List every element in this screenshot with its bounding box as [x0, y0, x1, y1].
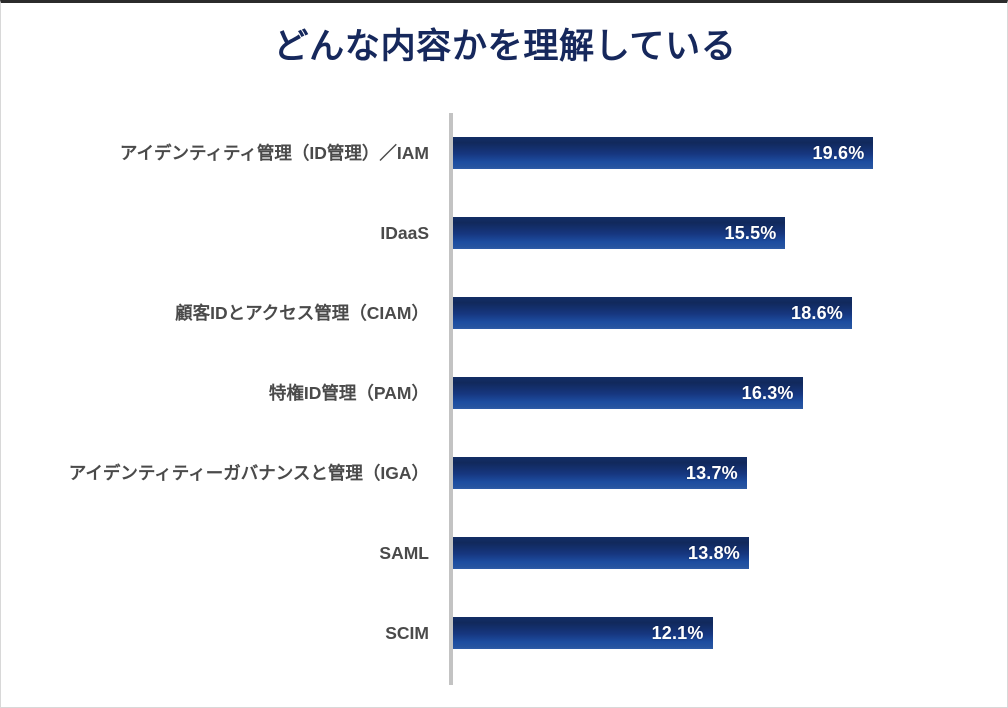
bar-rows: アイデンティティ管理（ID管理）／IAM19.6%IDaaS15.5%顧客IDと… — [1, 113, 1008, 688]
bar-value-label: 15.5% — [725, 223, 786, 244]
bar-value-label: 13.8% — [688, 543, 749, 564]
bar-row: アイデンティティーガバナンスと管理（IGA）13.7% — [1, 433, 1008, 513]
bar[interactable]: 12.1% — [453, 617, 713, 649]
bar[interactable]: 18.6% — [453, 297, 852, 329]
bar[interactable]: 16.3% — [453, 377, 803, 409]
chart-title: どんな内容かを理解している — [1, 25, 1008, 69]
bar-value-label: 18.6% — [791, 303, 852, 324]
bar-row: SCIM12.1% — [1, 593, 1008, 673]
category-label: 特権ID管理（PAM） — [1, 383, 439, 404]
category-label: 顧客IDとアクセス管理（CIAM） — [1, 303, 439, 324]
category-label: アイデンティティーガバナンスと管理（IGA） — [1, 463, 439, 484]
bar-wrapper: 12.1% — [453, 617, 713, 649]
bar-wrapper: 13.8% — [453, 537, 749, 569]
bar-wrapper: 15.5% — [453, 217, 785, 249]
category-label: アイデンティティ管理（ID管理）／IAM — [1, 143, 439, 164]
bar-row: IDaaS15.5% — [1, 193, 1008, 273]
category-label: SCIM — [1, 623, 439, 644]
bar-row: アイデンティティ管理（ID管理）／IAM19.6% — [1, 113, 1008, 193]
bar[interactable]: 15.5% — [453, 217, 785, 249]
bar[interactable]: 13.8% — [453, 537, 749, 569]
bar-wrapper: 16.3% — [453, 377, 803, 409]
bar-value-label: 13.7% — [686, 463, 747, 484]
bar-row: SAML13.8% — [1, 513, 1008, 593]
plot-area: アイデンティティ管理（ID管理）／IAM19.6%IDaaS15.5%顧客IDと… — [1, 113, 1008, 688]
category-label: SAML — [1, 543, 439, 564]
bar-wrapper: 13.7% — [453, 457, 747, 489]
bar-value-label: 12.1% — [652, 623, 713, 644]
bar-value-label: 16.3% — [742, 383, 803, 404]
bar[interactable]: 13.7% — [453, 457, 747, 489]
category-label: IDaaS — [1, 223, 439, 244]
chart-container: どんな内容かを理解している アイデンティティ管理（ID管理）／IAM19.6%I… — [0, 0, 1008, 708]
bar-row: 特権ID管理（PAM）16.3% — [1, 353, 1008, 433]
bar-wrapper: 18.6% — [453, 297, 852, 329]
bar-wrapper: 19.6% — [453, 137, 873, 169]
bar-row: 顧客IDとアクセス管理（CIAM）18.6% — [1, 273, 1008, 353]
bar-value-label: 19.6% — [812, 143, 873, 164]
bar[interactable]: 19.6% — [453, 137, 873, 169]
